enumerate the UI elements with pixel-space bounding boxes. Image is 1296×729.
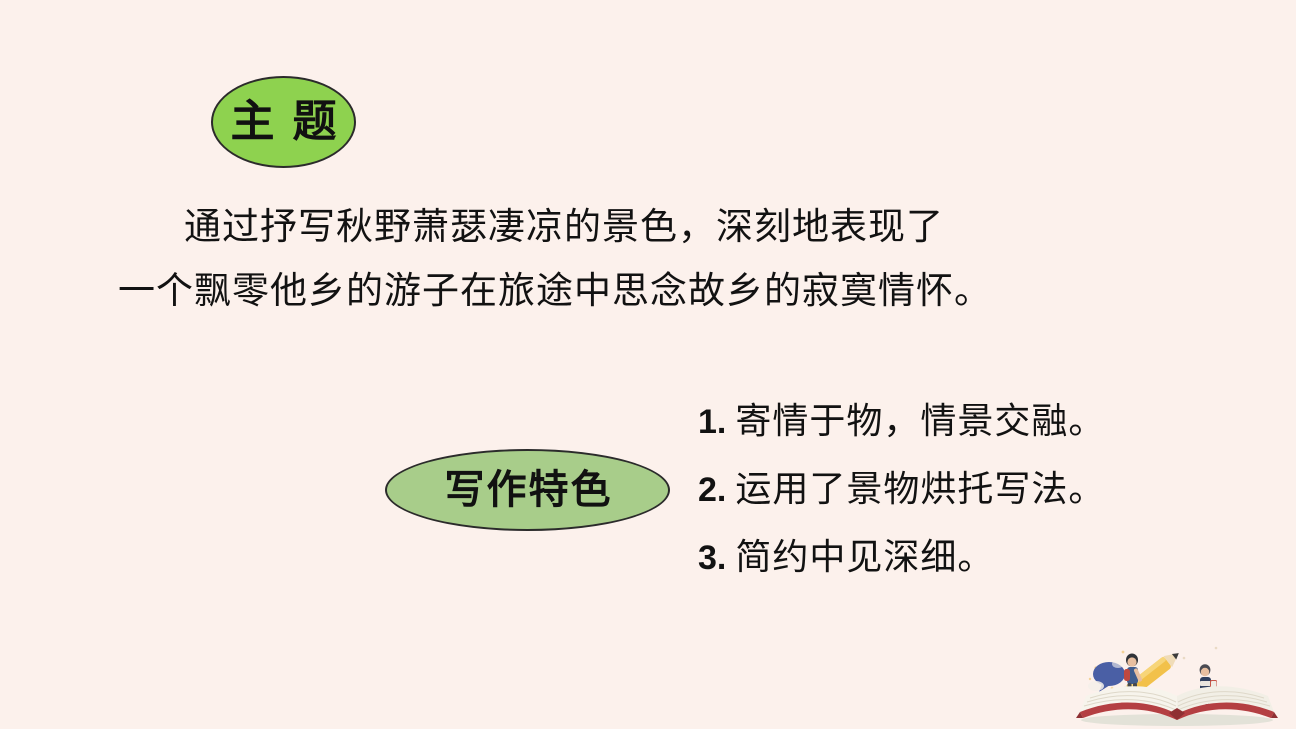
list-item: 2. 运用了景物烘托写法。 xyxy=(698,460,1105,528)
writing-feature-badge-label: 写作特色 xyxy=(443,470,613,510)
topic-badge-label: 主题 xyxy=(213,100,355,144)
list-item-number: 2. xyxy=(698,471,726,510)
list-item-number: 3. xyxy=(698,539,726,578)
list-item-text: 寄情于物，情景交融。 xyxy=(735,392,1105,444)
open-book-illustration-icon xyxy=(1066,634,1288,726)
list-item: 3. 简约中见深细。 xyxy=(698,528,1105,596)
theme-paragraph-line-1: 通过抒写秋野萧瑟凄凉的景色，深刻地表现了 xyxy=(110,196,1010,260)
feature-list: 1. 寄情于物，情景交融。 2. 运用了景物烘托写法。 3. 简约中见深细。 xyxy=(698,392,1105,596)
slide-canvas: 主题 通过抒写秋野萧瑟凄凉的景色，深刻地表现了 一个飘零他乡的游子在旅途中思念故… xyxy=(0,0,1296,729)
list-item-text: 简约中见深细。 xyxy=(735,528,994,580)
theme-paragraph: 通过抒写秋野萧瑟凄凉的景色，深刻地表现了 一个飘零他乡的游子在旅途中思念故乡的寂… xyxy=(110,196,1010,324)
list-item-number: 1. xyxy=(698,403,726,442)
list-item-text: 运用了景物烘托写法。 xyxy=(735,460,1105,512)
writing-feature-badge: 写作特色 xyxy=(385,449,670,531)
theme-paragraph-line-2: 一个飘零他乡的游子在旅途中思念故乡的寂寞情怀。 xyxy=(110,260,1010,324)
list-item: 1. 寄情于物，情景交融。 xyxy=(698,392,1105,460)
topic-badge: 主题 xyxy=(211,76,356,168)
